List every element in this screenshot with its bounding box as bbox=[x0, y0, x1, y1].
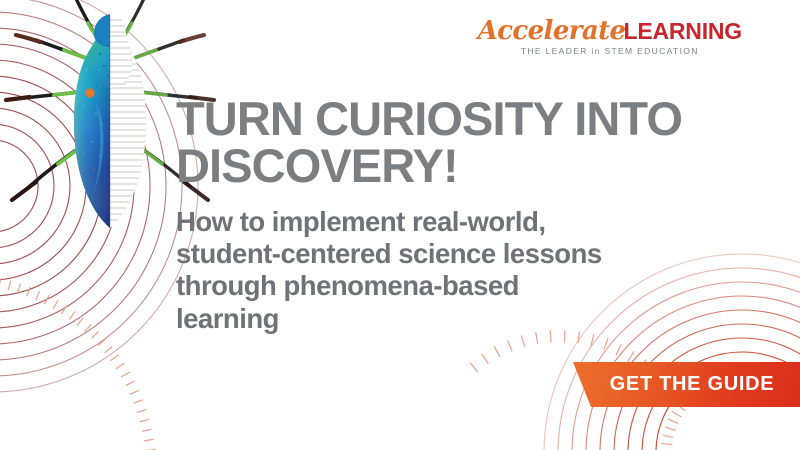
subheadline: How to implement real-world, student-cen… bbox=[176, 189, 606, 335]
logo-tagline: THE LEADER in STEM EDUCATION bbox=[478, 47, 742, 56]
get-the-guide-button[interactable]: GET THE GUIDE bbox=[570, 362, 800, 407]
beetle-orange-spot bbox=[85, 88, 94, 97]
promo-banner: AccelerateLEARNING THE LEADER in STEM ED… bbox=[0, 0, 800, 450]
headline-line-1: TURN CURIOSITY INTO bbox=[176, 96, 756, 143]
copy-block: TURN CURIOSITY INTO DISCOVERY! How to im… bbox=[176, 96, 756, 335]
cta-label: GET THE GUIDE bbox=[570, 362, 800, 407]
logo-word-learning: LEARNING bbox=[623, 18, 742, 44]
logo-word-accelerate: Accelerate bbox=[478, 16, 626, 46]
beetle-body bbox=[70, 14, 152, 234]
logo-wordmark: AccelerateLEARNING bbox=[478, 18, 742, 44]
headline-line-2: DISCOVERY! bbox=[176, 143, 756, 190]
accelerate-learning-logo[interactable]: AccelerateLEARNING THE LEADER in STEM ED… bbox=[478, 18, 742, 56]
radial-tick-arc-left bbox=[0, 274, 156, 450]
page-title: TURN CURIOSITY INTO DISCOVERY! bbox=[176, 96, 756, 189]
